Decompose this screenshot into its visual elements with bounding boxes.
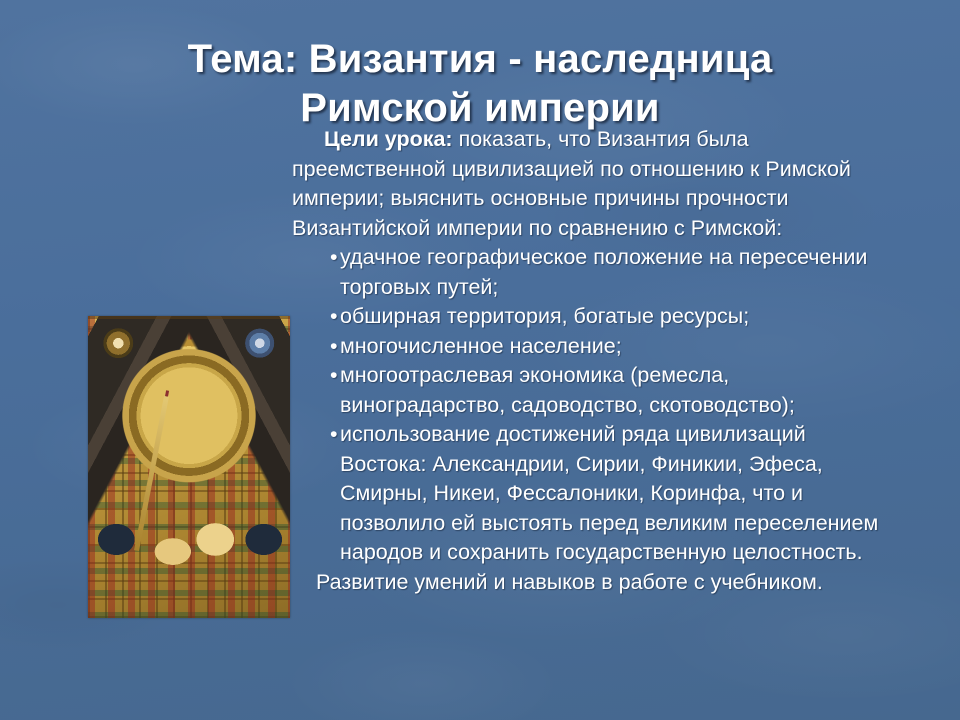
lesson-goals-paragraph: Цели урока: показать, что Византия была … <box>292 125 898 243</box>
list-item: многочисленное население; <box>340 332 898 362</box>
list-item: использование достижений ряда цивилизаци… <box>340 420 898 568</box>
list-item: обширная территория, богатые ресурсы; <box>340 302 898 332</box>
slide-body: Цели урока: показать, что Византия была … <box>292 125 898 597</box>
archangel-michael-artwork <box>88 316 290 618</box>
list-item: многоотраслевая экономика (ремесла, вино… <box>340 361 898 420</box>
slide-title: Тема: Византия - наследница Римской импе… <box>110 35 850 133</box>
closing-line: Развитие умений и навыков в работе с уче… <box>292 568 898 598</box>
lesson-goals-label: Цели урока: <box>324 127 453 151</box>
presentation-slide: Тема: Византия - наследница Римской импе… <box>0 0 960 720</box>
byzantine-icon-image <box>88 316 290 618</box>
list-item: удачное географическое положение на пере… <box>340 243 898 302</box>
goals-bullet-list: удачное географическое положение на пере… <box>292 243 898 568</box>
